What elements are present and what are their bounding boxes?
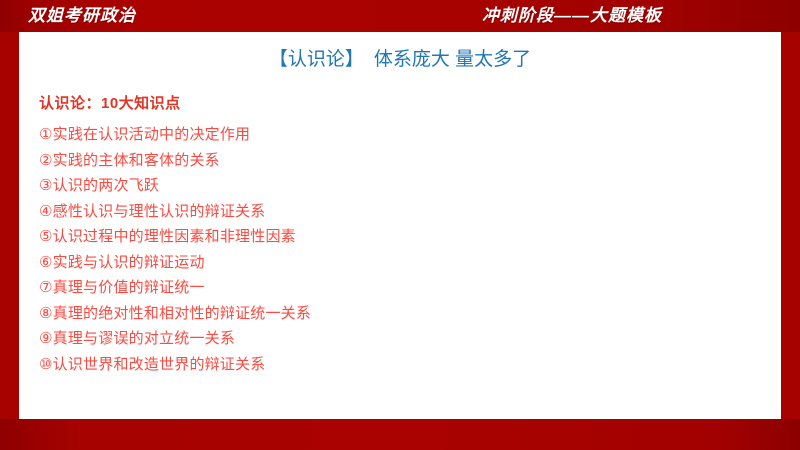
slide-root: 双姐考研政治 冲刺阶段——大题模板 【认识论】体系庞大 量太多了 认识论：10大… [0, 0, 800, 450]
slide-content: 【认识论】体系庞大 量太多了 认识论：10大知识点 ①实践在认识活动中的决定作用… [19, 32, 781, 419]
list-item: ⑧真理的绝对性和相对性的辩证统一关系 [39, 301, 739, 327]
list-item: ①实践在认识活动中的决定作用 [39, 122, 739, 148]
section-heading: 认识论：10大知识点 [39, 92, 181, 113]
stage-title: 冲刺阶段——大题模板 [482, 0, 662, 32]
list-item: ⑩认识世界和改造世界的辩证关系 [39, 352, 739, 378]
page-title-topic: 【认识论】 [269, 49, 364, 70]
brand-title: 双姐考研政治 [28, 0, 136, 32]
frame-left-band [0, 32, 19, 419]
list-item: ④感性认识与理性认识的辩证关系 [39, 199, 739, 225]
list-item: ⑦真理与价值的辩证统一 [39, 275, 739, 301]
list-item: ⑥实践与认识的辩证运动 [39, 250, 739, 276]
page-title-note: 体系庞大 量太多了 [374, 49, 531, 70]
list-item: ②实践的主体和客体的关系 [39, 148, 739, 174]
frame-bottom-band [0, 419, 800, 450]
list-item: ③认识的两次飞跃 [39, 173, 739, 199]
list-item: ⑤认识过程中的理性因素和非理性因素 [39, 224, 739, 250]
page-title: 【认识论】体系庞大 量太多了 [19, 44, 781, 71]
knowledge-point-list: ①实践在认识活动中的决定作用 ②实践的主体和客体的关系 ③认识的两次飞跃 ④感性… [39, 122, 739, 377]
frame-right-band [781, 32, 800, 419]
list-item: ⑨真理与谬误的对立统一关系 [39, 326, 739, 352]
